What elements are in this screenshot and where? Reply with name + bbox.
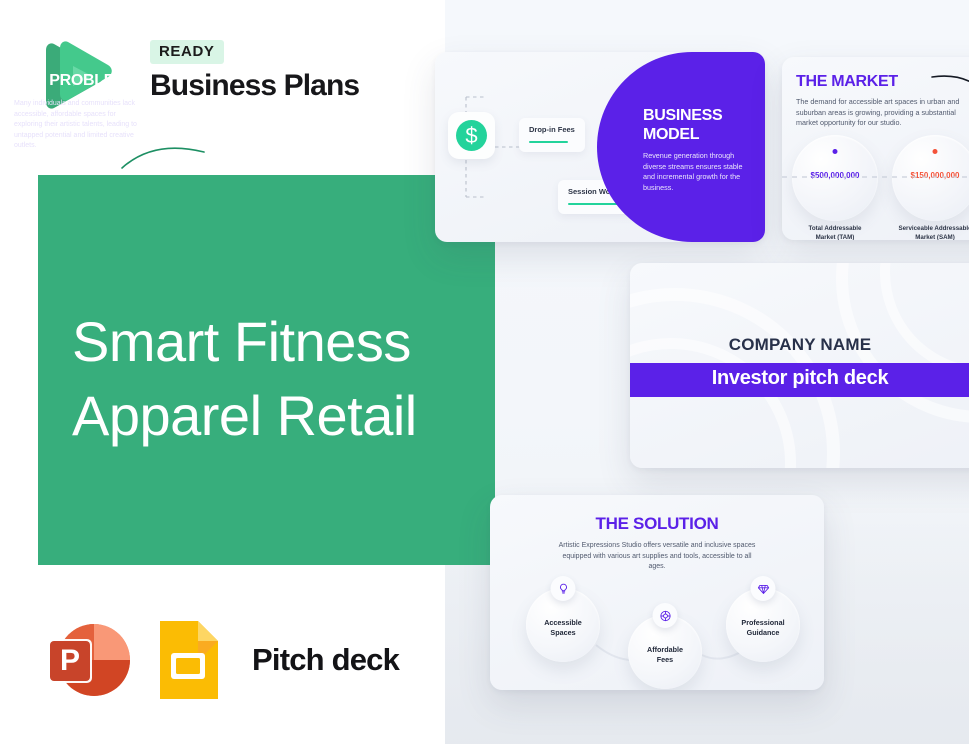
format-icons-row: P Pitch deck: [46, 617, 399, 703]
brand-name: Business Plans: [150, 69, 359, 103]
solution-node-professional-guidance[interactable]: Professional Guidance: [726, 588, 800, 662]
item-label: Drop-in Fees: [529, 125, 575, 134]
target-icon: [653, 603, 678, 628]
metric-dot: [833, 149, 838, 154]
slide-market[interactable]: THE MARKET The demand for accessible art…: [782, 57, 969, 240]
slide-description: Artistic Expressions Studio offers versa…: [554, 541, 760, 573]
brand-logo-text: READY Business Plans: [150, 40, 359, 103]
metric-caption-sam: Serviceable Addressable Market (SAM): [885, 225, 969, 240]
powerpoint-icon: P: [46, 617, 132, 703]
node-label: Affordable Fees: [628, 645, 702, 665]
metric-divider-line: [782, 175, 969, 179]
curved-arrow-icon: [120, 142, 210, 176]
business-model-item-1[interactable]: Drop-in Fees: [519, 118, 585, 152]
slide-business-model[interactable]: $ Drop-in Fees Session Workshops Commiss…: [435, 52, 765, 242]
slide-title: BUSINESS MODEL: [643, 106, 755, 144]
revenue-icon-card: $: [448, 112, 495, 159]
slide-subtitle: Investor pitch deck: [630, 367, 969, 390]
solution-node-affordable-fees[interactable]: Affordable Fees: [628, 615, 702, 689]
ready-badge: READY: [150, 40, 224, 64]
slide-title: COMPANY NAME: [630, 335, 969, 355]
diamond-icon: [751, 576, 776, 601]
slide-solution[interactable]: THE SOLUTION Artistic Expressions Studio…: [490, 495, 824, 690]
solution-node-accessible-spaces[interactable]: Accessible Spaces: [526, 588, 600, 662]
format-label: Pitch deck: [252, 642, 399, 678]
slide-title: THE MARKET: [796, 73, 898, 91]
slide-company-name[interactable]: COMPANY NAME Investor pitch deck: [630, 263, 969, 468]
dollar-sign-icon: $: [456, 120, 487, 151]
lightbulb-icon: [551, 576, 576, 601]
slide-title: THE PROBLEM: [14, 72, 127, 90]
slide-description: Revenue generation through diverse strea…: [643, 151, 755, 193]
slide-title: THE SOLUTION: [490, 514, 824, 534]
svg-text:P: P: [60, 644, 80, 677]
google-slides-icon: [154, 617, 222, 703]
node-label: Professional Guidance: [726, 618, 800, 638]
node-label: Accessible Spaces: [526, 618, 600, 638]
page-title: Smart Fitness Apparel Retail: [72, 305, 502, 453]
metric-caption-tam: Total Addressable Market (TAM): [785, 225, 885, 240]
metric-dot: [933, 149, 938, 154]
curved-arrow-icon: [930, 71, 969, 117]
item-underline: [529, 141, 568, 143]
